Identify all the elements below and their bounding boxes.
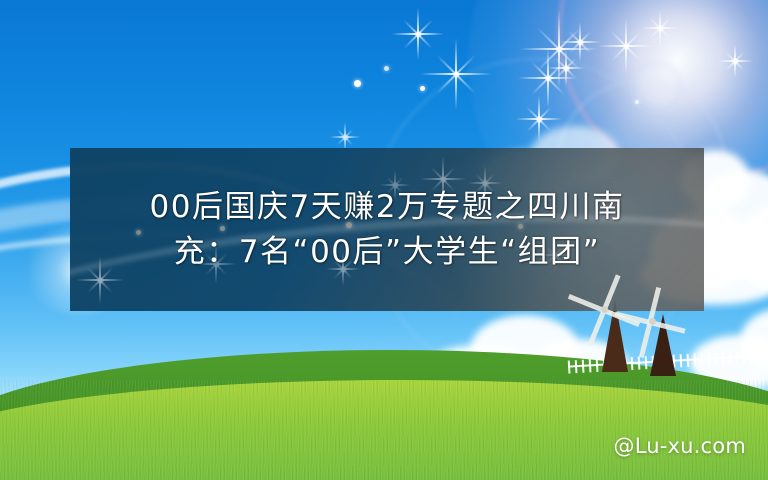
image-canvas: 00后国庆7天赚2万专题之四川南 充：7名“00后”大学生“组团” @Lu-xu… [0, 0, 768, 480]
grass-texture [0, 380, 768, 480]
light-dot [384, 66, 389, 71]
headline-text-block: 00后国庆7天赚2万专题之四川南 充：7名“00后”大学生“组团” [70, 148, 704, 311]
lens-flare-dot [630, 60, 684, 114]
windmill-right [640, 300, 740, 380]
light-dot [635, 100, 639, 104]
light-dot [420, 86, 425, 91]
watermark-text: @Lu-xu.com [614, 434, 746, 458]
headline-line-1: 00后国庆7天赚2万专题之四川南 [150, 185, 625, 229]
windmill-hub [649, 318, 656, 325]
headline-line-2: 充：7名“00后”大学生“组团” [174, 230, 600, 274]
title-overlay-panel: 00后国庆7天赚2万专题之四川南 充：7名“00后”大学生“组团” [70, 148, 704, 311]
light-dot [354, 80, 361, 87]
